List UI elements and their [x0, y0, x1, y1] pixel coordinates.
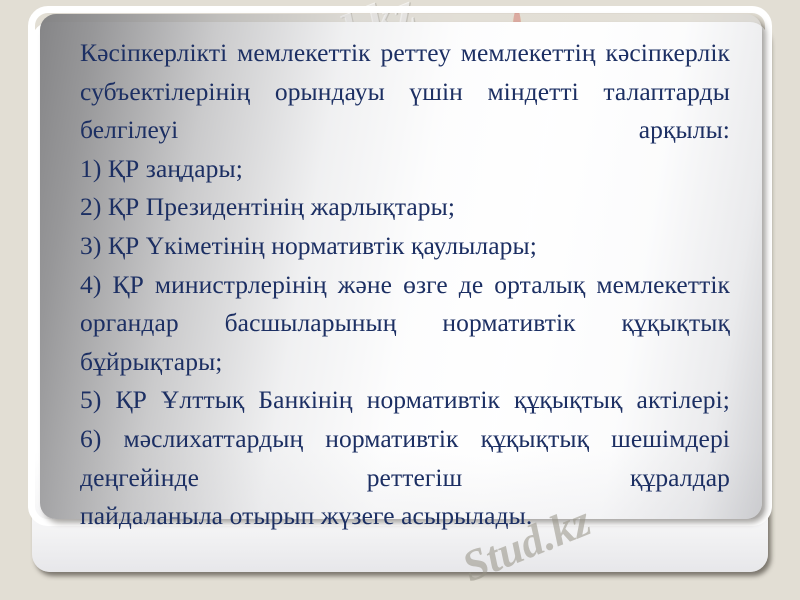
slide-body-text: Кәсіпкерлікті мемлекеттік реттеу мемлеке…: [80, 34, 730, 536]
closing-paragraph: пайдаланыла отырып жүзеге асырылады.: [80, 497, 730, 536]
list-item: 2) ҚР Президентінің жарлықтары;: [80, 188, 730, 227]
list-item: 1) ҚР заңдары;: [80, 150, 730, 189]
list-item: 4) ҚР министрлерінің және өзге де орталы…: [80, 266, 730, 382]
slide-canvas: Stud.kz Stud.kz - Stud.kz Stud.kz Stud.k…: [0, 0, 800, 600]
list-item: 6) мәслихаттардың нормативтік құқықтық ш…: [80, 420, 730, 497]
intro-paragraph: Кәсіпкерлікті мемлекеттік реттеу мемлеке…: [80, 34, 730, 150]
list-item: 3) ҚР Үкіметінің нормативтік қаулылары;: [80, 227, 730, 266]
list-item: 5) ҚР Ұлттық Банкінің нормативтік құқықт…: [80, 381, 730, 420]
